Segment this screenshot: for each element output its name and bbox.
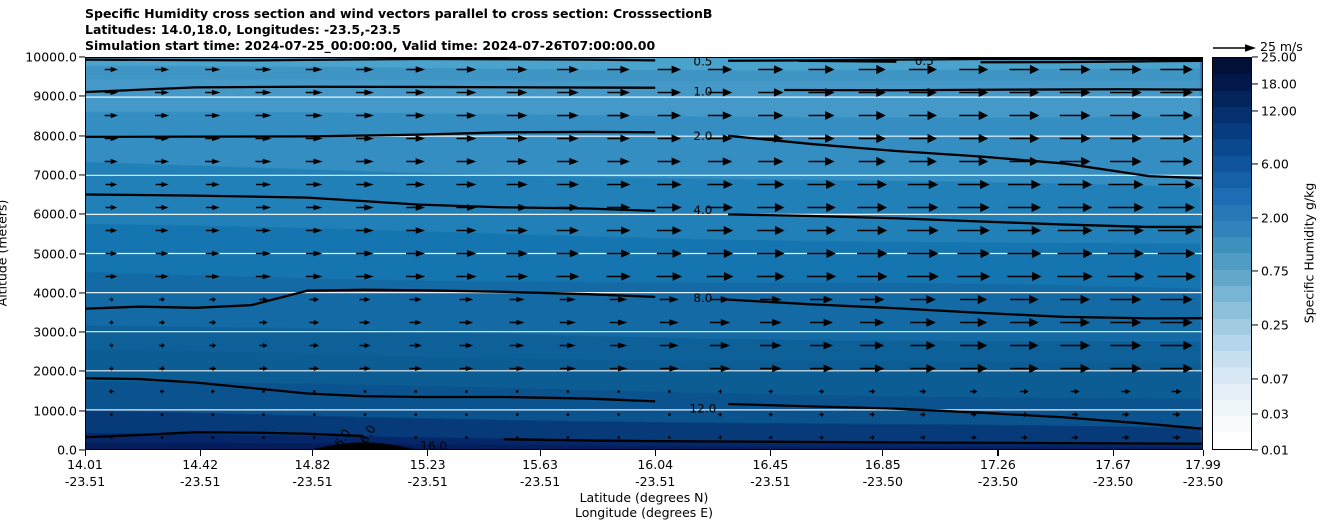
colorbar-tick-label: 6.00	[1261, 157, 1289, 172]
colorbar-tick-mark	[1252, 449, 1258, 450]
colorbar-band	[1213, 270, 1251, 286]
x-axis-tick-mark	[200, 450, 201, 456]
contour-label: 8.0	[693, 291, 712, 305]
colorbar-tick-label: 0.01	[1261, 443, 1289, 458]
x-axis-latitude-tick-label: 16.04	[637, 457, 673, 472]
colorbar-tick-label: 12.00	[1261, 103, 1297, 118]
colorbar-tick-mark	[1252, 217, 1258, 218]
colorbar-band	[1213, 74, 1251, 90]
x-axis-tick-mark	[312, 450, 313, 456]
contour-line	[728, 404, 1202, 429]
y-axis-tick-mark	[79, 253, 85, 254]
x-axis-label-longitude: Longitude (degrees E)	[575, 505, 713, 520]
colorbar-tick-mark	[1252, 164, 1258, 165]
x-axis-tick-mark	[655, 450, 656, 456]
colorbar-band	[1213, 188, 1251, 204]
colorbar-tick-mark	[1252, 83, 1258, 84]
y-axis-tick-label: 6000.0	[33, 207, 77, 222]
y-axis-tick-mark	[79, 135, 85, 136]
colorbar-tick-label: 0.07	[1261, 371, 1289, 386]
y-axis-tick-mark	[79, 174, 85, 175]
title-line-2: Latitudes: 14.0,18.0, Longitudes: -23.5,…	[85, 22, 712, 38]
y-axis-tick-mark	[79, 410, 85, 411]
x-axis-tick-mark	[1113, 450, 1114, 456]
contour-line	[86, 87, 655, 92]
contour-line	[728, 300, 1202, 319]
colorbar-tick-label: 2.00	[1261, 210, 1289, 225]
x-axis-latitude-tick-label: 15.23	[410, 457, 446, 472]
colorbar-tick-label: 18.00	[1261, 76, 1297, 91]
x-axis-longitude-tick-label: -23.51	[65, 474, 105, 489]
x-axis-latitude-tick-label: 17.99	[1185, 457, 1221, 472]
colorbar-band	[1213, 367, 1251, 383]
y-axis-tick-mark	[79, 332, 85, 333]
colorbar-band	[1213, 139, 1251, 155]
contour-line	[86, 59, 655, 60]
x-axis-longitude-tick-label: -23.51	[292, 474, 332, 489]
contour-line	[86, 378, 655, 401]
colorbar-tick-mark	[1252, 378, 1258, 379]
x-axis-longitude-tick-label: -23.51	[750, 474, 790, 489]
arrow-right-icon	[1212, 41, 1258, 55]
contour-label: 16.0	[420, 439, 447, 449]
colorbar-band	[1213, 253, 1251, 269]
colorbar-tick-mark	[1252, 56, 1258, 57]
x-axis-tick-mark	[427, 450, 428, 456]
x-axis-longitude-tick-label: -23.51	[520, 474, 560, 489]
contour-line	[86, 290, 655, 309]
y-axis-tick-mark	[79, 292, 85, 293]
contour-line	[86, 195, 655, 211]
x-axis-tick-mark	[770, 450, 771, 456]
y-axis-tick-label: 8000.0	[33, 128, 77, 143]
y-axis-tick-label: 5000.0	[33, 246, 77, 261]
y-axis-label: Altitude (meters)	[0, 200, 10, 307]
y-axis-tick-labels: 0.01000.02000.03000.04000.05000.06000.07…	[0, 0, 77, 526]
colorbar-band	[1213, 432, 1251, 448]
colorbar-tick-label: 0.75	[1261, 264, 1289, 279]
x-axis-latitude-tick-label: 17.26	[980, 457, 1016, 472]
x-axis-latitude-tick-label: 16.45	[753, 457, 789, 472]
x-axis-longitude-tick-label: -23.50	[863, 474, 903, 489]
contour-line	[980, 61, 1202, 62]
contour-line	[728, 214, 1202, 227]
contour-line	[728, 136, 1202, 178]
colorbar-tick-label: 0.25	[1261, 317, 1289, 332]
y-axis-tick-mark	[79, 371, 85, 372]
colorbar-band	[1213, 319, 1251, 335]
x-axis-longitude-tick-label: -23.50	[978, 474, 1018, 489]
y-axis-tick-label: 10000.0	[25, 50, 77, 65]
x-axis-tick-mark	[540, 450, 541, 456]
x-axis-longitude-tick-label: -23.50	[1093, 474, 1133, 489]
colorbar-tick-mark	[1252, 414, 1258, 415]
y-axis-tick-mark	[79, 449, 85, 450]
x-axis-longitude-tick-label: -23.51	[408, 474, 448, 489]
y-axis-tick-label: 9000.0	[33, 89, 77, 104]
x-axis-label-latitude: Latitude (degrees N)	[580, 490, 709, 505]
colorbar-band	[1213, 221, 1251, 237]
contour-line	[784, 89, 1202, 90]
y-axis-tick-mark	[79, 56, 85, 57]
title-line-3: Simulation start time: 2024-07-25_00:00:…	[85, 38, 712, 54]
contour-line	[504, 439, 1202, 443]
contour-label: 2.0	[693, 129, 712, 143]
colorbar-band	[1213, 237, 1251, 253]
y-axis-tick-label: 0.0	[57, 443, 77, 458]
contour-line	[798, 61, 896, 62]
colorbar-band	[1213, 58, 1251, 74]
x-axis-latitude-tick-label: 17.67	[1095, 457, 1131, 472]
contour-label: 4.0	[693, 203, 712, 217]
colorbar-band	[1213, 156, 1251, 172]
x-axis-tick-mark	[882, 450, 883, 456]
colorbar-label: Specific Humidity g/kg	[1302, 183, 1317, 324]
contour-label: 0.5	[915, 58, 934, 68]
colorbar-band	[1213, 416, 1251, 432]
colorbar-band	[1213, 91, 1251, 107]
contour-label: 1.0	[693, 84, 712, 98]
contour-line	[86, 132, 655, 137]
x-axis-tick-mark	[85, 450, 86, 456]
y-axis-tick-label: 7000.0	[33, 167, 77, 182]
y-axis-tick-label: 3000.0	[33, 325, 77, 340]
colorbar-band	[1213, 205, 1251, 221]
x-axis-latitude-tick-label: 14.42	[182, 457, 218, 472]
x-axis-longitude-tick-label: -23.51	[180, 474, 220, 489]
colorbar-band	[1213, 302, 1251, 318]
colorbar-band	[1213, 384, 1251, 400]
title-line-1: Specific Humidity cross section and wind…	[85, 6, 712, 22]
colorbar-band	[1213, 286, 1251, 302]
colorbar-tick-mark	[1252, 271, 1258, 272]
x-axis-tick-mark	[1203, 450, 1204, 456]
contour-label: 0.5	[693, 58, 712, 69]
colorbar-band	[1213, 400, 1251, 416]
colorbar-band	[1213, 107, 1251, 123]
x-axis-latitude-tick-label: 14.82	[295, 457, 331, 472]
y-axis-tick-label: 2000.0	[33, 364, 77, 379]
colorbar-tick-label: 25.00	[1261, 50, 1297, 65]
x-axis-latitude-tick-label: 14.01	[67, 457, 103, 472]
colorbar-tick-mark	[1252, 110, 1258, 111]
y-axis-tick-mark	[79, 96, 85, 97]
colorbar-band	[1213, 123, 1251, 139]
colorbar-band	[1213, 351, 1251, 367]
x-axis-tick-mark	[997, 450, 998, 456]
colorbar-tick-label: 0.03	[1261, 407, 1289, 422]
figure-title: Specific Humidity cross section and wind…	[85, 6, 712, 55]
cross-section-plot-area: 0.50.51.02.04.08.012.016.016.016.0	[85, 57, 1203, 450]
colorbar-tick-mark	[1252, 324, 1258, 325]
colorbar-band	[1213, 172, 1251, 188]
x-axis-latitude-tick-label: 16.85	[865, 457, 901, 472]
colorbar	[1212, 57, 1252, 450]
x-axis-longitude-tick-label: -23.50	[1183, 474, 1223, 489]
contour-label-rotated: 16.0	[328, 426, 354, 449]
x-axis-longitude-tick-label: -23.51	[635, 474, 675, 489]
colorbar-band	[1213, 335, 1251, 351]
x-axis-latitude-tick-label: 15.63	[522, 457, 558, 472]
figure-canvas: Specific Humidity cross section and wind…	[0, 0, 1326, 526]
contour-line	[86, 432, 364, 437]
humidity-contour-lines: 0.50.51.02.04.08.012.016.016.016.0	[86, 58, 1202, 449]
y-axis-tick-mark	[79, 214, 85, 215]
contour-label: 12.0	[690, 401, 717, 415]
y-axis-tick-label: 1000.0	[33, 403, 77, 418]
y-axis-tick-label: 4000.0	[33, 285, 77, 300]
